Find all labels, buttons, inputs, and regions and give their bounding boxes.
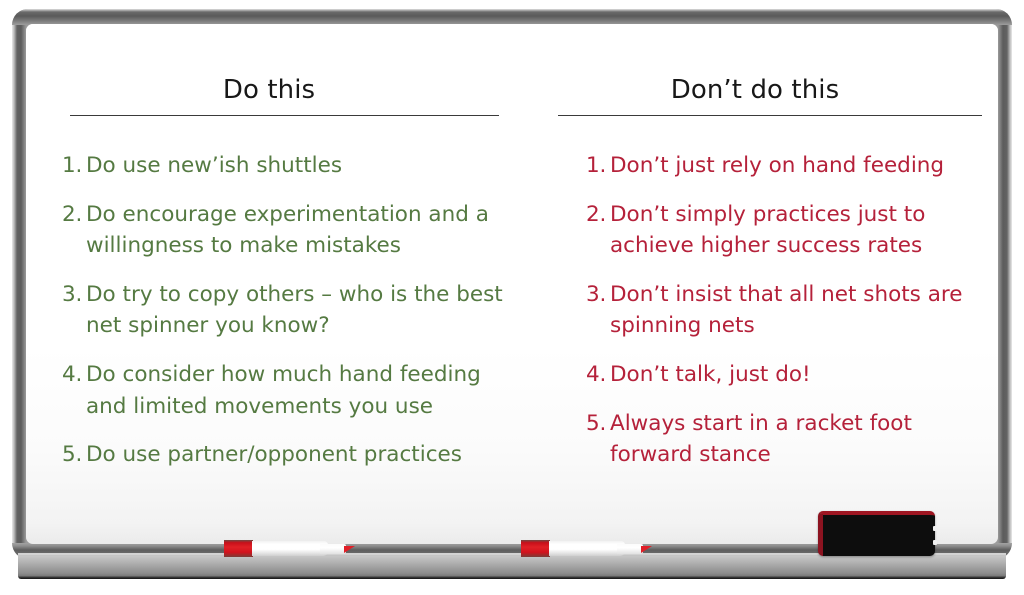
list-item-text: Do try to copy others – who is the best …: [86, 279, 504, 342]
marker-nib-icon: [344, 546, 355, 553]
eraser[interactable]: [818, 511, 935, 556]
column-dont-title: Don’t do this: [512, 24, 998, 103]
list-item: 5. Always start in a racket foot forward…: [586, 408, 986, 471]
whiteboard-surface: Do this 1. Do use new’ish shuttles 2. Do…: [26, 24, 998, 544]
list-item-text: Don’t talk, just do!: [610, 359, 986, 391]
list-item-text: Don’t insist that all net shots are spin…: [610, 279, 986, 342]
column-dont: Don’t do this 1. Don’t just rely on hand…: [512, 24, 998, 494]
list-item-number: 5.: [586, 408, 610, 440]
pen-tray: [18, 553, 1006, 579]
marker-nib-icon: [641, 546, 652, 553]
list-item-text: Do encourage experimentation and a willi…: [86, 199, 504, 262]
list-item-text: Do use partner/opponent practices: [86, 439, 504, 471]
eraser-clip-icon: [933, 540, 937, 545]
list-item-text: Do use new’ish shuttles: [86, 150, 504, 182]
do-list: 1. Do use new’ish shuttles 2. Do encoura…: [62, 150, 504, 471]
list-item: 2. Don’t simply practices just to achiev…: [586, 199, 986, 262]
eraser-clip-icon: [933, 526, 937, 531]
list-item-number: 3.: [62, 279, 86, 311]
list-item-text: Don’t just rely on hand feeding: [610, 150, 986, 182]
list-item: 1. Do use new’ish shuttles: [62, 150, 504, 182]
board-columns: Do this 1. Do use new’ish shuttles 2. Do…: [26, 24, 998, 494]
list-item-text: Always start in a racket foot forward st…: [610, 408, 986, 471]
list-item-number: 3.: [586, 279, 610, 311]
column-dont-rule: [558, 115, 982, 116]
marker-cap-icon: [521, 540, 550, 557]
list-item: 2. Do encourage experimentation and a wi…: [62, 199, 504, 262]
list-item-number: 2.: [586, 199, 610, 231]
column-do-rule: [70, 115, 499, 116]
list-item-number: 5.: [62, 439, 86, 471]
marker-shoulder-icon: [617, 544, 643, 554]
list-item-number: 1.: [586, 150, 610, 182]
list-item-number: 4.: [586, 359, 610, 391]
column-do-title: Do this: [26, 24, 512, 103]
list-item-text: Do consider how much hand feeding and li…: [86, 359, 504, 422]
list-item-number: 2.: [62, 199, 86, 231]
list-item: 1. Don’t just rely on hand feeding: [586, 150, 986, 182]
marker-barrel-icon: [549, 541, 625, 556]
marker-cap-icon: [224, 540, 253, 557]
list-item: 3. Don’t insist that all net shots are s…: [586, 279, 986, 342]
list-item: 4. Don’t talk, just do!: [586, 359, 986, 391]
column-do: Do this 1. Do use new’ish shuttles 2. Do…: [26, 24, 512, 494]
marker-barrel-icon: [252, 541, 328, 556]
list-item-number: 1.: [62, 150, 86, 182]
list-item: 3. Do try to copy others – who is the be…: [62, 279, 504, 342]
list-item-text: Don’t simply practices just to achieve h…: [610, 199, 986, 262]
list-item-number: 4.: [62, 359, 86, 391]
list-item: 4. Do consider how much hand feeding and…: [62, 359, 504, 422]
list-item: 5. Do use partner/opponent practices: [62, 439, 504, 471]
dont-list: 1. Don’t just rely on hand feeding 2. Do…: [586, 150, 986, 471]
marker-shoulder-icon: [320, 544, 346, 554]
whiteboard-frame: Do this 1. Do use new’ish shuttles 2. Do…: [12, 9, 1012, 559]
whiteboard-scene: Do this 1. Do use new’ish shuttles 2. Do…: [0, 0, 1024, 595]
